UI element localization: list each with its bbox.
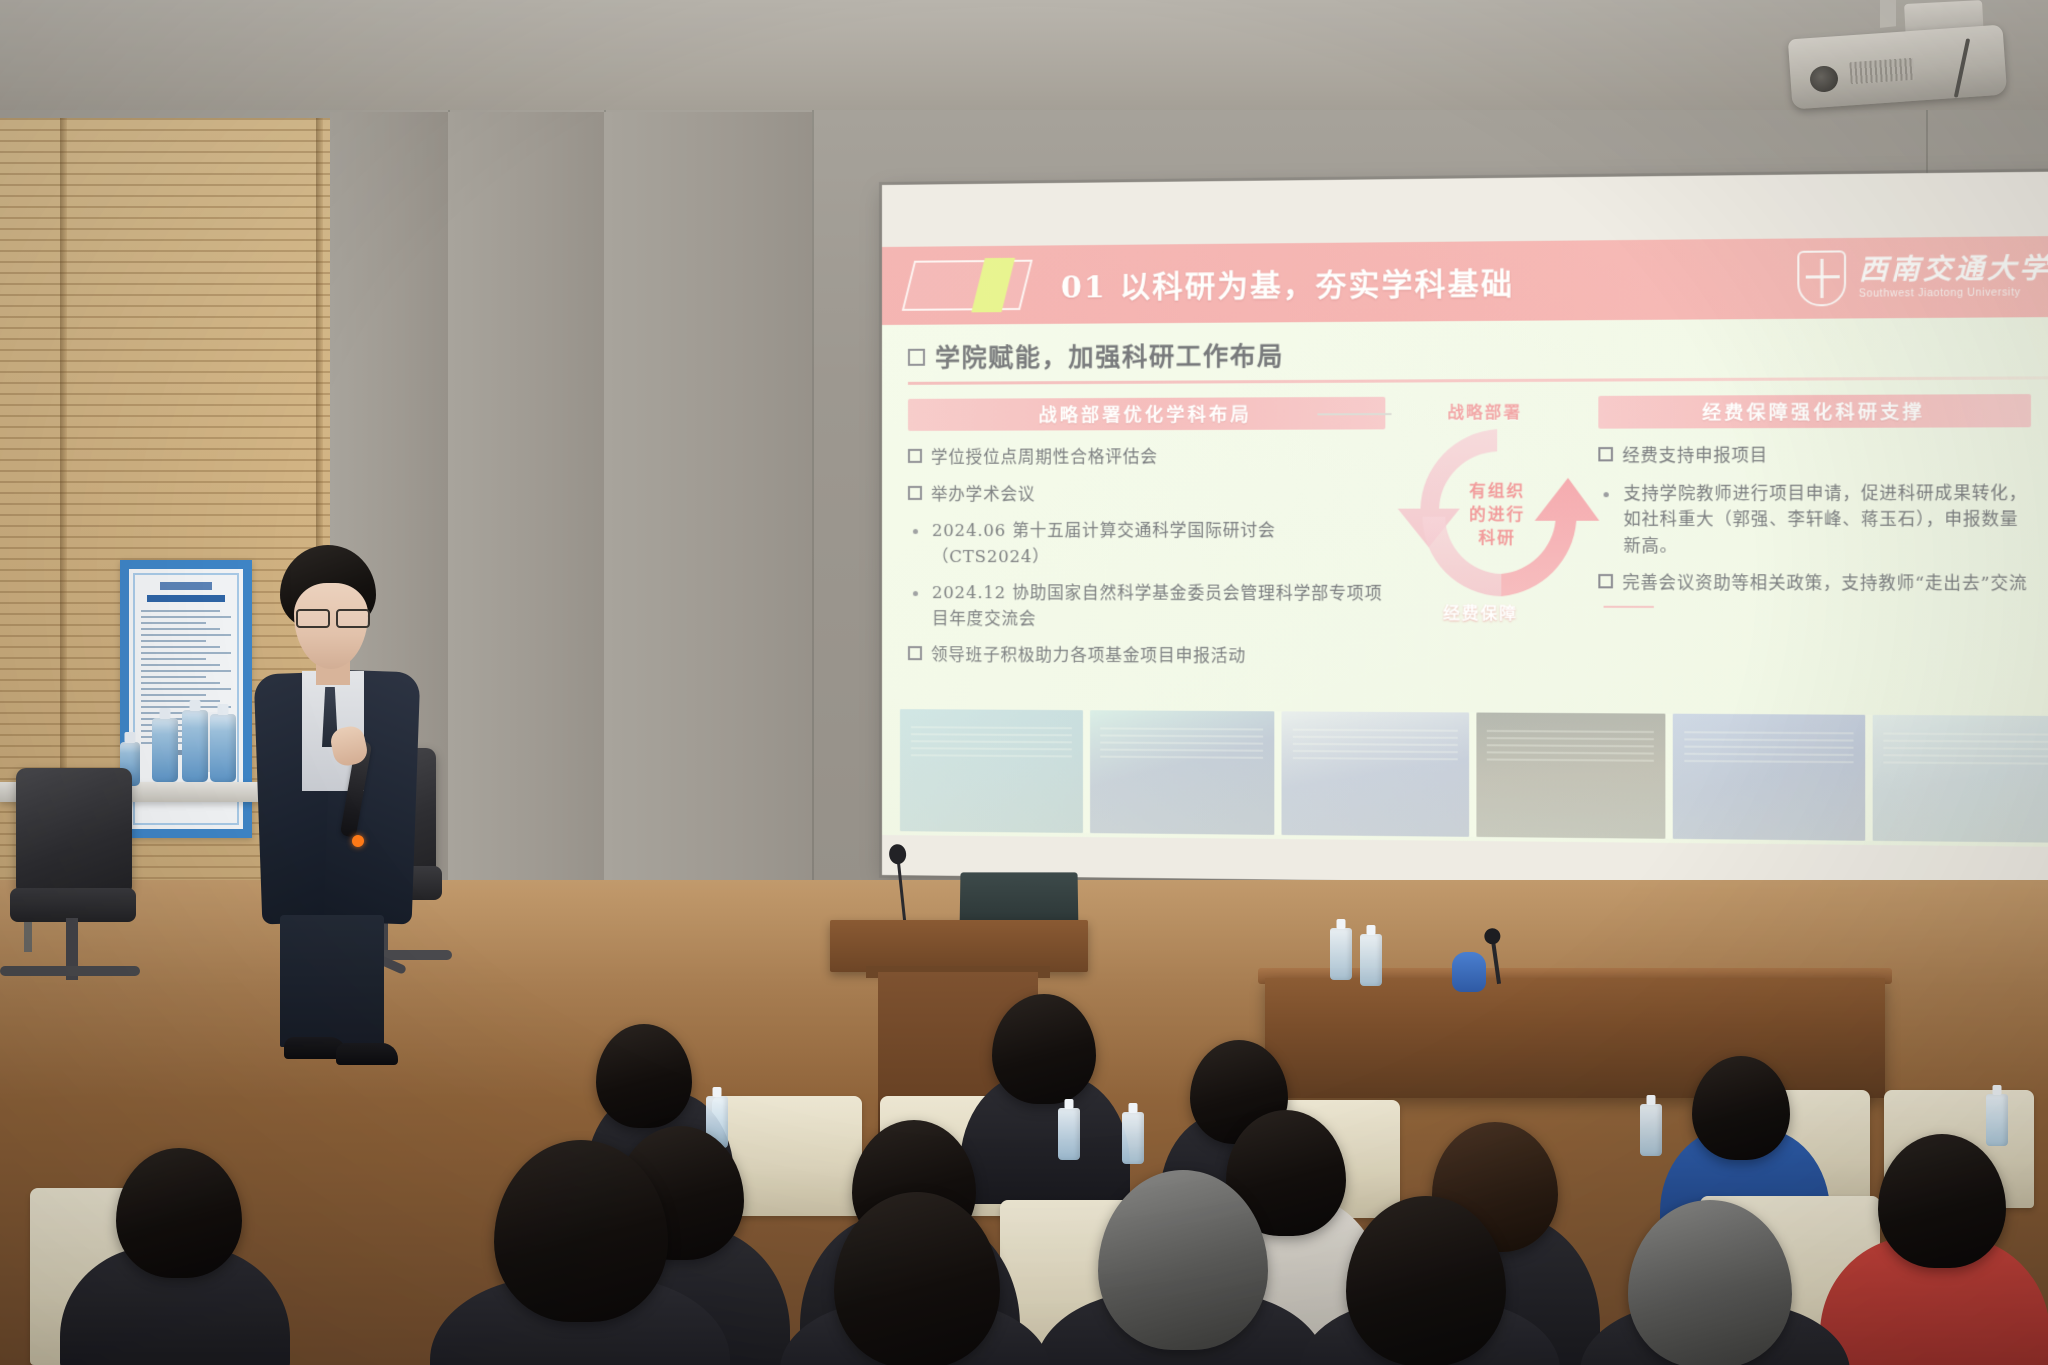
shield-icon (1797, 250, 1846, 306)
water-bottle (1122, 1112, 1144, 1164)
photo-banner (911, 726, 1072, 759)
presenter (236, 545, 426, 1065)
list-item-text: 学位授位点周期性合格评估会 (931, 444, 1158, 470)
photo-people (907, 764, 1075, 833)
photo-banner (1487, 730, 1654, 764)
list-item-text: 经费支持申报项目 (1622, 443, 1768, 470)
list-item: 2024.12 协助国家自然科学基金委员会管理科学部专项项目年度交流会 (908, 580, 1385, 633)
slide-photo-strip (900, 709, 2048, 843)
photo-people (1880, 772, 2048, 843)
lead-underline-rule (908, 376, 2048, 385)
photo-thumbnail (1090, 710, 1275, 835)
list-item: 学位授位点周期性合格评估会 (908, 444, 1385, 471)
square-bullet-icon (908, 348, 925, 365)
university-logo: 西南交通大学 Southwest Jiaotong University (1797, 249, 2048, 307)
projector-vent (1849, 58, 1914, 84)
photo-thumbnail (1282, 711, 1469, 836)
cycle-center-label: 有组织 的进行 科研 (1469, 478, 1525, 549)
header-ribbon-shape (902, 260, 1033, 311)
slide-title: 01 以科研为基，夯实学科基础 (1061, 258, 1514, 306)
water-bottle (1360, 934, 1382, 986)
office-chair-back[interactable] (16, 768, 132, 896)
dot-bullet-icon (913, 529, 918, 534)
head-table (1265, 978, 1885, 1098)
slide-lead-heading: 学院赋能，加强科研工作布局 (908, 332, 2048, 375)
water-bottle (1986, 1094, 2008, 1146)
photo-banner (1101, 727, 1264, 760)
wall-column (448, 112, 604, 912)
wall-column (604, 112, 812, 912)
projection-screen: 01 以科研为基，夯实学科基础 西南交通大学 Southwest Jiaoton… (882, 171, 2048, 888)
slide-columns: 战略部署优化学科布局 学位授位点周期性合格评估会 举办学术会议 (908, 394, 2048, 685)
middle-column: 战略部署 有组织 的进行 科研 经费保障 (1385, 396, 1598, 683)
poster-logo-icon (160, 582, 212, 590)
cycle-top-label: 战略部署 (1447, 398, 1522, 423)
lecture-hall-scene: 01 以科研为基，夯实学科基础 西南交通大学 Southwest Jiaoton… (0, 0, 2048, 1365)
office-chair-seat[interactable] (10, 888, 136, 922)
lead-heading-text: 学院赋能，加强科研工作布局 (935, 336, 1284, 374)
list-item-text: 2024.12 协助国家自然科学基金委员会管理科学部专项项目年度交流会 (932, 580, 1385, 633)
water-bottle (1330, 928, 1352, 980)
dot-bullet-icon (1604, 492, 1609, 497)
glasses-icon (294, 609, 372, 625)
cycle-bottom-label: 经费保障 (1443, 599, 1518, 624)
logo-name-cn: 西南交通大学 (1859, 255, 2048, 286)
slide-header: 01 以科研为基，夯实学科基础 西南交通大学 Southwest Jiaoton… (882, 236, 2048, 325)
list-item: 经费支持申报项目 (1598, 442, 2031, 469)
wall-seam (812, 110, 814, 890)
logo-name-en: Southwest Jiaotong University (1859, 287, 2048, 300)
presenter-trousers (280, 915, 384, 1047)
water-bottle (1640, 1104, 1662, 1156)
chair-base (0, 966, 140, 976)
square-bullet-icon (908, 486, 922, 500)
screen-top-margin (882, 171, 2048, 247)
right-column-bullets: 经费支持申报项目 支持学院教师进行项目申请，促进科研成果转化，如社科重大（郭强、… (1598, 442, 2031, 597)
water-bottle (152, 718, 178, 782)
cycle-leader-line-2 (1604, 606, 1654, 608)
right-column: 经费保障强化科研支撑 经费支持申报项目 支持学院教师进行项目申请，促进科研成果转… (1598, 394, 2031, 685)
water-bottle (1058, 1108, 1080, 1160)
list-item-text: 举办学术会议 (931, 481, 1035, 507)
photo-people (1289, 767, 1461, 837)
cycle-diagram: 战略部署 有组织 的进行 科研 经费保障 (1394, 402, 1602, 622)
cycle-leader-line (1317, 413, 1391, 415)
list-item-text: 2024.06 第十五届计算交通科学国际研讨会（CTS2024） (932, 518, 1385, 570)
left-band-text: 战略部署优化学科布局 (1039, 400, 1252, 427)
photo-people (1680, 770, 1857, 841)
left-column: 战略部署优化学科布局 学位授位点周期性合格评估会 举办学术会议 (908, 397, 1385, 682)
photo-banner (1884, 733, 2048, 767)
list-item: 完善会议资助等相关政策，支持教师“走出去”交流 (1598, 570, 2031, 597)
presentation-slide: 01 以科研为基，夯实学科基础 西南交通大学 Southwest Jiaoton… (882, 236, 2048, 847)
water-bottle (182, 710, 208, 782)
photo-thumbnail (1872, 715, 2048, 843)
photo-banner (1293, 729, 1458, 762)
podium-top (830, 920, 1088, 972)
photo-thumbnail (900, 709, 1082, 833)
list-item: 2024.06 第十五届计算交通科学国际研讨会（CTS2024） (908, 518, 1385, 570)
square-bullet-icon (908, 646, 922, 660)
list-item: 举办学术会议 (908, 481, 1385, 507)
slide-body: 学院赋能，加强科研工作布局 战略部署优化学科布局 学位授位点周期性合格评估会 (882, 317, 2048, 847)
list-item-text: 领导班子积极助力各项基金项目申报活动 (931, 643, 1246, 670)
left-column-band: 战略部署优化学科布局 (908, 397, 1385, 431)
list-item-text: 完善会议资助等相关政策，支持教师“走出去”交流 (1622, 570, 2027, 597)
square-bullet-icon (908, 449, 922, 463)
mascot-toy (1452, 952, 1486, 992)
presenter-shoe (336, 1043, 398, 1065)
right-column-band: 经费保障强化科研支撑 (1598, 394, 2031, 429)
photo-thumbnail (1673, 714, 1865, 841)
photo-people (1483, 769, 1657, 839)
list-item-text: 支持学院教师进行项目申请，促进科研成果转化，如社科重大（郭强、李轩峰、蒋玉石），… (1623, 480, 2031, 560)
photo-people (1097, 766, 1267, 835)
poster-title-bar (147, 595, 224, 602)
list-item: 支持学院教师进行项目申请，促进科研成果转化，如社科重大（郭强、李轩峰、蒋玉石），… (1598, 480, 2031, 560)
left-column-bullets: 学位授位点周期性合格评估会 举办学术会议 2024.06 第十五届计算交通科学国… (908, 444, 1385, 671)
photo-banner (1684, 731, 1853, 765)
right-band-text: 经费保障强化科研支撑 (1702, 398, 1925, 426)
list-item: 领导班子积极助力各项基金项目申报活动 (908, 642, 1385, 670)
water-bottle (210, 714, 236, 782)
photo-thumbnail (1476, 713, 1666, 839)
dot-bullet-icon (913, 591, 918, 596)
